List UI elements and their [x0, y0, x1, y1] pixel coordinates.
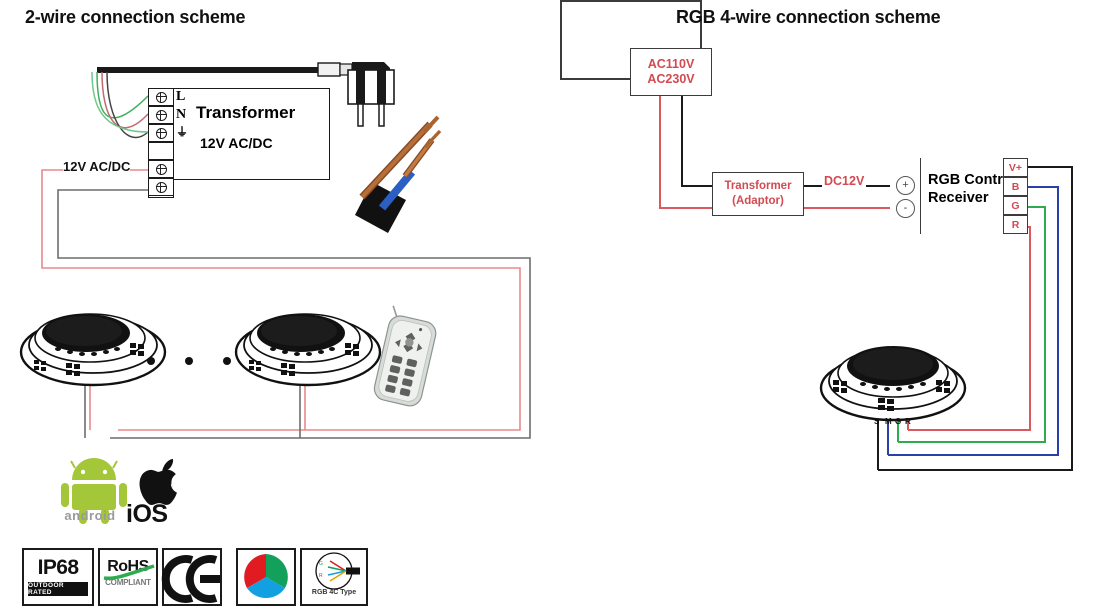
- ac-source-box: AC110V AC230V: [630, 48, 712, 96]
- dc12v-label: DC12V: [822, 174, 866, 188]
- rgb-4c-wiring-icon: G R: [306, 551, 362, 593]
- screw-icon: [156, 92, 167, 103]
- plug-face: [348, 70, 394, 104]
- adaptor-label-adaptor: (Adaptor): [732, 194, 784, 209]
- dc-positive-loop-wire: [42, 170, 520, 430]
- terminal-blank: [148, 142, 174, 160]
- right-scheme-panel: RGB 4-wire connection scheme AC110V AC23…: [560, 0, 1117, 614]
- ios-label: iOS: [126, 500, 168, 529]
- ip68-subtext: OUTDOOR RATED: [28, 582, 88, 596]
- terminal-out-positive: [148, 160, 174, 178]
- svg-text:G: G: [319, 561, 323, 567]
- earth-lead-wire: [97, 72, 148, 118]
- receiver-terminal-r: R: [1003, 215, 1028, 234]
- terminal-out-negative: [148, 178, 174, 196]
- rgb-color-wheel-icon: [240, 552, 292, 602]
- lamp-pin-label-g: G: [895, 418, 901, 426]
- plug-strain-relief: [318, 63, 340, 76]
- terminal-earth: [148, 124, 174, 142]
- terminal-letter-l: L: [176, 90, 185, 104]
- terminal-l: [148, 88, 174, 106]
- ac-neutral-wire: [682, 96, 712, 186]
- lamp-pin-label-r: R: [905, 418, 911, 426]
- left-scheme-panel: 2-wire connection scheme: [0, 0, 560, 614]
- series-dot-3: [223, 357, 231, 365]
- rgb-4c-label: RGB 4C Type: [300, 589, 368, 596]
- plug-pin-right-base: [377, 66, 386, 104]
- ac-voltage-230: AC230V: [647, 72, 694, 87]
- receiver-terminal-vplus: V+: [1003, 158, 1028, 177]
- svg-text:R: R: [319, 573, 323, 579]
- plug-pin-left-base: [356, 66, 365, 104]
- terminal-letter-earth: ⏚: [176, 126, 188, 138]
- terminal-n: [148, 106, 174, 124]
- ce-mark-icon: [166, 554, 218, 600]
- receiver-terminal-g: G: [1003, 196, 1028, 215]
- apple-logo-icon: [140, 459, 177, 505]
- plug-prong-left: [358, 104, 363, 126]
- receiver-input-negative: -: [896, 199, 915, 218]
- screw-icon: [156, 164, 167, 175]
- receiver-terminal-b: B: [1003, 177, 1028, 196]
- rohs-check-icon: [100, 566, 156, 582]
- ip68-text: IP68: [24, 556, 92, 580]
- ac-voltage-110: AC110V: [648, 57, 695, 72]
- dc-output-label: 12V AC/DC: [63, 160, 130, 173]
- series-dot-1: [147, 357, 155, 365]
- pool-lamp-icon: [233, 305, 383, 390]
- pool-lamp-icon: [18, 305, 168, 390]
- adaptor-box: Transformer (Adaptor): [712, 172, 804, 216]
- terminal-letter-n: N: [176, 108, 186, 122]
- plug-prong-right: [379, 104, 384, 126]
- receiver-input-positive: +: [896, 176, 915, 195]
- lamp-pin-label-s: S: [874, 418, 879, 426]
- transformer-label: Transformer: [196, 103, 295, 123]
- series-dot-2: [185, 357, 193, 365]
- two-core-cable-icon: [355, 117, 440, 233]
- adaptor-label-transformer: Transformer: [724, 179, 791, 194]
- transformer-rating-label: 12V AC/DC: [200, 135, 273, 151]
- screw-icon: [156, 182, 167, 193]
- lamp-pin-label-m: M: [885, 418, 892, 426]
- screw-icon: [156, 128, 167, 139]
- ac-live-wire: [660, 96, 712, 208]
- rgb-pool-lamp-icon: [818, 338, 968, 423]
- screw-icon: [156, 110, 167, 121]
- android-label: android: [50, 508, 130, 523]
